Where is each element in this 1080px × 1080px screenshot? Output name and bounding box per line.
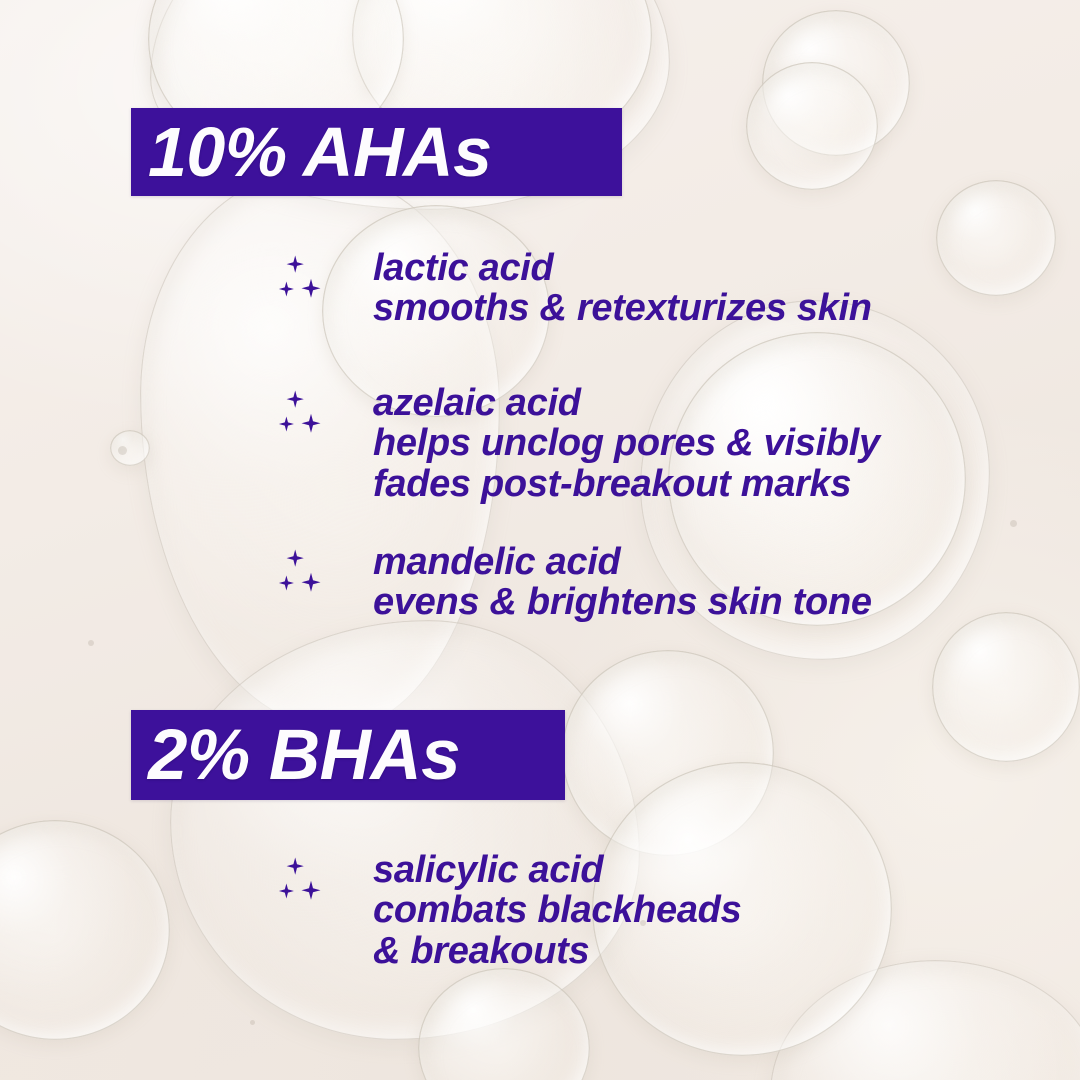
- ingredient-benefit: & breakouts: [373, 931, 741, 971]
- ingredient-text-block: lactic acid smooths & retexturizes skin: [373, 248, 872, 329]
- infographic-canvas: 10% AHAs lactic acid smooths & retexturi…: [0, 0, 1080, 1080]
- surface-speck: [88, 640, 94, 646]
- gel-droplet: [110, 430, 150, 466]
- ingredient-name: azelaic acid: [373, 383, 880, 423]
- ingredient-item-azelaic-acid: azelaic acid helps unclog pores & visibl…: [278, 383, 880, 504]
- ingredient-name: salicylic acid: [373, 850, 741, 890]
- ingredient-benefit: fades post-breakout marks: [373, 464, 880, 504]
- ingredient-item-mandelic-acid: mandelic acid evens & brightens skin ton…: [278, 542, 872, 623]
- surface-speck: [118, 446, 127, 455]
- ingredient-name: lactic acid: [373, 248, 872, 288]
- ingredient-benefit: evens & brightens skin tone: [373, 582, 872, 622]
- surface-speck: [1010, 520, 1017, 527]
- gel-blob-center-lower: [170, 620, 640, 1040]
- sparkle-icon: [278, 254, 330, 306]
- heading-bha-badge: 2% BHAs: [131, 710, 565, 800]
- gel-droplet: [418, 968, 590, 1080]
- gel-droplet: [562, 650, 774, 856]
- ingredient-item-salicylic-acid: salicylic acid combats blackheads & brea…: [278, 850, 741, 971]
- ingredient-benefit: combats blackheads: [373, 890, 741, 930]
- ingredient-text-block: salicylic acid combats blackheads & brea…: [373, 850, 741, 971]
- ingredient-benefit: helps unclog pores & visibly: [373, 423, 880, 463]
- gel-droplet: [746, 62, 878, 190]
- ingredient-name: mandelic acid: [373, 542, 872, 582]
- sparkle-icon: [278, 548, 330, 600]
- ingredient-text-block: mandelic acid evens & brightens skin ton…: [373, 542, 872, 623]
- heading-aha-badge: 10% AHAs: [131, 108, 622, 196]
- heading-bha-label: 2% BHAs: [131, 720, 460, 791]
- gel-droplet: [0, 820, 170, 1040]
- gel-blob-bottom-right: [770, 960, 1080, 1080]
- surface-speck: [250, 1020, 255, 1025]
- ingredient-text-block: azelaic acid helps unclog pores & visibl…: [373, 383, 880, 504]
- sparkle-icon: [278, 389, 330, 441]
- gel-droplet: [936, 180, 1056, 296]
- sparkle-icon: [278, 856, 330, 908]
- gel-droplet: [762, 10, 910, 156]
- ingredient-item-lactic-acid: lactic acid smooths & retexturizes skin: [278, 248, 872, 329]
- gel-droplet: [932, 612, 1080, 762]
- ingredient-benefit: smooths & retexturizes skin: [373, 288, 872, 328]
- heading-aha-label: 10% AHAs: [131, 117, 492, 187]
